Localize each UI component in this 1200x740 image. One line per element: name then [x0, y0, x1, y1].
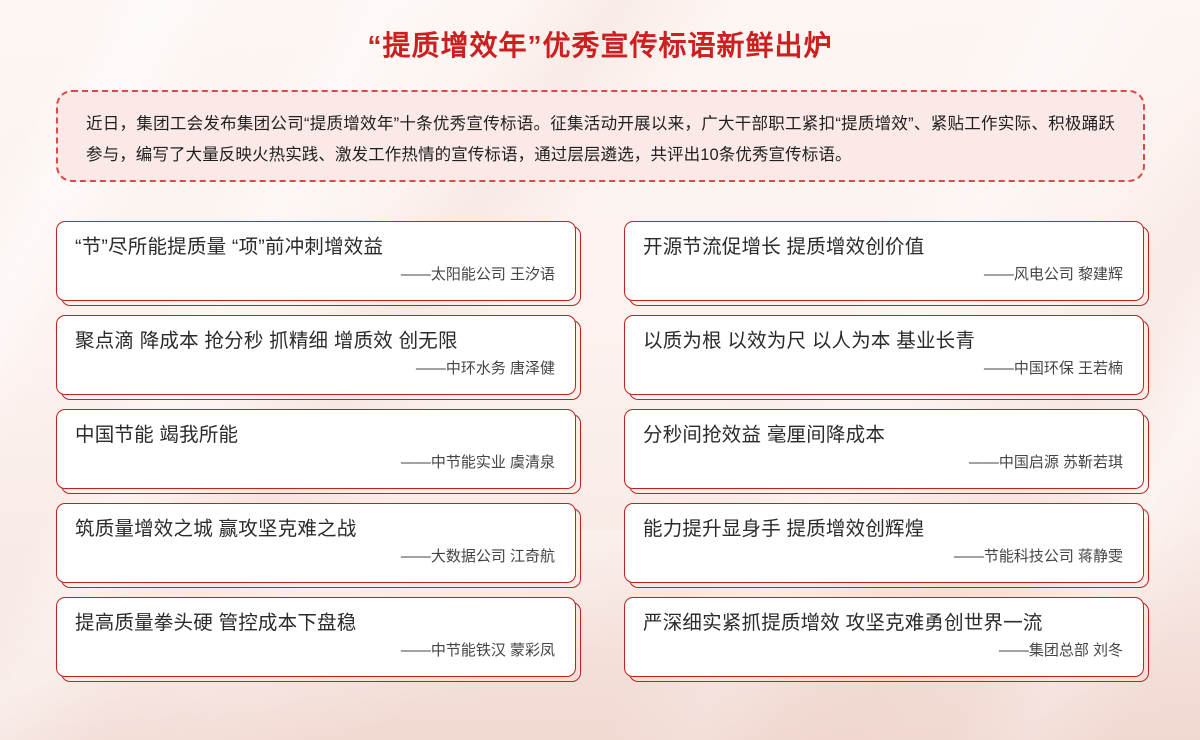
slogan-text: 严深细实紧抓提质增效 攻坚克难勇创世界一流 [643, 608, 1125, 638]
slogan-attribution: ——大数据公司 江奇航 [75, 544, 557, 570]
slogan-text: 提高质量拳头硬 管控成本下盘稳 [75, 608, 557, 638]
slogan-card-wrap: 严深细实紧抓提质增效 攻坚克难勇创世界一流 ——集团总部 刘冬 [624, 597, 1144, 677]
slogan-card[interactable]: 能力提升显身手 提质增效创辉煌 ——节能科技公司 蒋静雯 [624, 503, 1144, 583]
slogan-card-wrap: 中国节能 竭我所能 ——中节能实业 虞清泉 [56, 409, 576, 489]
slogan-text: 分秒间抢效益 毫厘间降成本 [643, 420, 1125, 450]
slogan-card[interactable]: 以质为根 以效为尺 以人为本 基业长青 ——中国环保 王若楠 [624, 315, 1144, 395]
slogan-column-left: “节”尽所能提质量 “项”前冲刺增效益 ——太阳能公司 王汐语 聚点滴 降成本 … [56, 221, 576, 677]
slogan-card[interactable]: 严深细实紧抓提质增效 攻坚克难勇创世界一流 ——集团总部 刘冬 [624, 597, 1144, 677]
slogan-attribution: ——节能科技公司 蒋静雯 [643, 544, 1125, 570]
slogan-text: 以质为根 以效为尺 以人为本 基业长青 [643, 326, 1125, 356]
slogan-card-wrap: 以质为根 以效为尺 以人为本 基业长青 ——中国环保 王若楠 [624, 315, 1144, 395]
slogan-text: 筑质量增效之城 赢攻坚克难之战 [75, 514, 557, 544]
slogan-card-wrap: 提高质量拳头硬 管控成本下盘稳 ——中节能铁汉 蒙彩凤 [56, 597, 576, 677]
slogan-card[interactable]: 开源节流促增长 提质增效创价值 ——风电公司 黎建辉 [624, 221, 1144, 301]
slogan-card[interactable]: 提高质量拳头硬 管控成本下盘稳 ——中节能铁汉 蒙彩凤 [56, 597, 576, 677]
slogan-card[interactable]: 分秒间抢效益 毫厘间降成本 ——中国启源 苏靳若琪 [624, 409, 1144, 489]
slogan-card-wrap: 开源节流促增长 提质增效创价值 ——风电公司 黎建辉 [624, 221, 1144, 301]
slogan-attribution: ——中节能铁汉 蒙彩凤 [75, 638, 557, 664]
slogan-card[interactable]: “节”尽所能提质量 “项”前冲刺增效益 ——太阳能公司 王汐语 [56, 221, 576, 301]
slogan-card[interactable]: 中国节能 竭我所能 ——中节能实业 虞清泉 [56, 409, 576, 489]
poster-page: “提质增效年”优秀宣传标语新鲜出炉 近日，集团工会发布集团公司“提质增效年”十条… [0, 0, 1200, 740]
slogan-columns: “节”尽所能提质量 “项”前冲刺增效益 ——太阳能公司 王汐语 聚点滴 降成本 … [0, 221, 1200, 677]
slogan-attribution: ——中国环保 王若楠 [643, 356, 1125, 382]
slogan-attribution: ——中国启源 苏靳若琪 [643, 450, 1125, 476]
slogan-text: 能力提升显身手 提质增效创辉煌 [643, 514, 1125, 544]
page-title: “提质增效年”优秀宣传标语新鲜出炉 [0, 0, 1200, 62]
slogan-column-right: 开源节流促增长 提质增效创价值 ——风电公司 黎建辉 以质为根 以效为尺 以人为… [624, 221, 1144, 677]
slogan-text: 聚点滴 降成本 抢分秒 抓精细 增质效 创无限 [75, 326, 557, 356]
slogan-card-wrap: 筑质量增效之城 赢攻坚克难之战 ——大数据公司 江奇航 [56, 503, 576, 583]
slogan-attribution: ——集团总部 刘冬 [643, 638, 1125, 664]
slogan-card-wrap: 能力提升显身手 提质增效创辉煌 ——节能科技公司 蒋静雯 [624, 503, 1144, 583]
intro-callout-box: 近日，集团工会发布集团公司“提质增效年”十条优秀宣传标语。征集活动开展以来，广大… [56, 90, 1145, 182]
slogan-card[interactable]: 聚点滴 降成本 抢分秒 抓精细 增质效 创无限 ——中环水务 唐泽健 [56, 315, 576, 395]
slogan-attribution: ——太阳能公司 王汐语 [75, 262, 557, 288]
slogan-card[interactable]: 筑质量增效之城 赢攻坚克难之战 ——大数据公司 江奇航 [56, 503, 576, 583]
slogan-attribution: ——风电公司 黎建辉 [643, 262, 1125, 288]
slogan-card-wrap: “节”尽所能提质量 “项”前冲刺增效益 ——太阳能公司 王汐语 [56, 221, 576, 301]
slogan-card-wrap: 聚点滴 降成本 抢分秒 抓精细 增质效 创无限 ——中环水务 唐泽健 [56, 315, 576, 395]
slogan-text: “节”尽所能提质量 “项”前冲刺增效益 [75, 232, 557, 262]
slogan-text: 开源节流促增长 提质增效创价值 [643, 232, 1125, 262]
slogan-attribution: ——中环水务 唐泽健 [75, 356, 557, 382]
intro-paragraph: 近日，集团工会发布集团公司“提质增效年”十条优秀宣传标语。征集活动开展以来，广大… [58, 92, 1143, 171]
slogan-card-wrap: 分秒间抢效益 毫厘间降成本 ——中国启源 苏靳若琪 [624, 409, 1144, 489]
slogan-text: 中国节能 竭我所能 [75, 420, 557, 450]
slogan-attribution: ——中节能实业 虞清泉 [75, 450, 557, 476]
